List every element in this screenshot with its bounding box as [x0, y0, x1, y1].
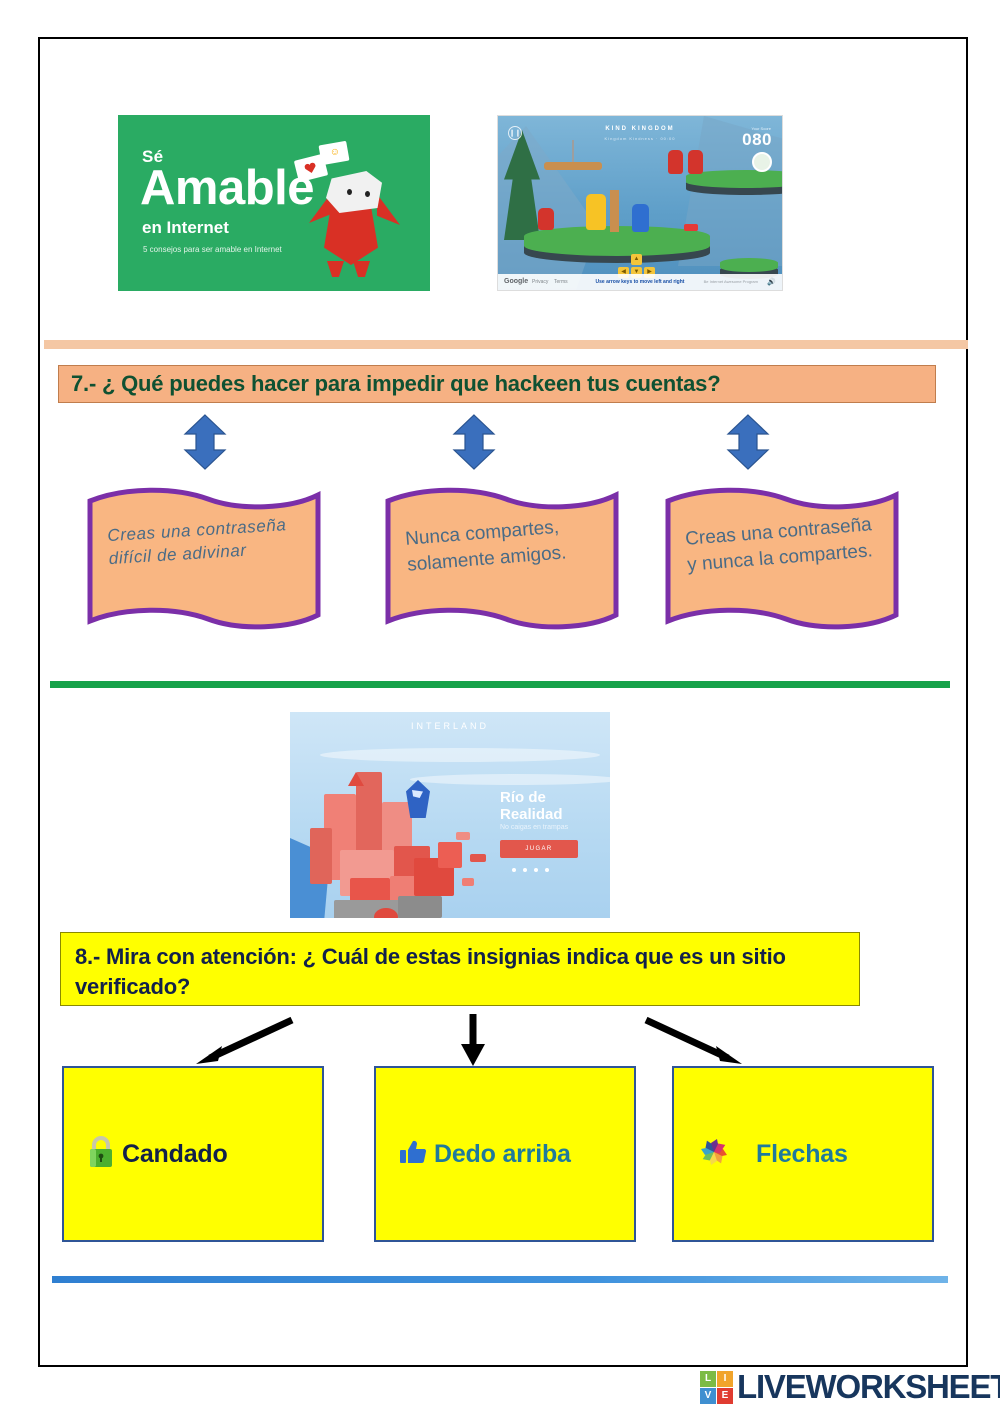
character-yellow: [586, 194, 606, 230]
character-eye-right: [365, 191, 370, 197]
character-red-1: [538, 208, 554, 230]
arrow-diagonal-icon: [640, 1016, 750, 1073]
question-8-text: 8.- Mira con atención: ¿ Cuál de estas i…: [75, 942, 845, 1001]
logo-tile-v: V: [700, 1388, 716, 1404]
amable-line2: Amable: [140, 160, 314, 216]
interland-tagline: No caigas en trampas: [500, 824, 568, 831]
character-red-3: [688, 150, 703, 174]
question-7-option-1[interactable]: Creas una contraseña difícil de adivinar: [80, 485, 326, 635]
interland-play-button[interactable]: JUGAR: [500, 840, 578, 858]
character-head: [326, 171, 382, 213]
logo-tile-e: E: [717, 1388, 733, 1404]
pinwheel-arrows-icon: [696, 1134, 732, 1175]
character-arm-right: [377, 194, 400, 225]
image-se-amable-en-internet: Sé Amable en Internet 5 consejos para se…: [118, 115, 430, 291]
arrow-down-icon: [455, 1012, 491, 1073]
thumbs-up-message-card-icon: ☺: [318, 141, 349, 166]
question-7-option-3[interactable]: Creas una contraseña y nunca la comparte…: [658, 485, 904, 635]
badge-icon: [752, 152, 772, 172]
carousel-dots[interactable]: [512, 868, 549, 872]
game-credit: Be Internet Awesome Program: [704, 279, 758, 284]
character-eye-left: [347, 189, 352, 195]
divider-green: [50, 681, 950, 688]
interland-heading-line2: Realidad: [500, 806, 563, 823]
score-value: 080: [742, 130, 772, 150]
liveworksheets-logo-tiles: L I V E: [700, 1371, 733, 1404]
game-subtitle: Kingdom Kindness · 00:00: [498, 136, 782, 141]
question-7-header: 7.- ¿ Qué puedes hacer para impedir que …: [58, 365, 936, 403]
platform-small: [720, 258, 778, 272]
image-kind-kingdom-game: ❙❙ KIND KINGDOM Kingdom Kindness · 00:00…: [497, 115, 783, 291]
question-8-option-flechas[interactable]: Flechas: [672, 1066, 934, 1242]
interland-heading-line1: Río de: [500, 789, 546, 806]
thumbs-up-icon: [398, 1137, 428, 1172]
double-arrow-up-down-icon: [726, 414, 770, 470]
collectible-chip: [684, 224, 698, 231]
key-up: ▲: [631, 254, 642, 265]
liveworksheets-wordmark: LIVEWORKSHEETS: [737, 1368, 1000, 1406]
image-interland-rio-de-realidad: INTERLAND Río de Realidad No c: [290, 712, 610, 918]
arrow-diagonal-icon: [188, 1016, 298, 1073]
character-red-2: [668, 150, 683, 174]
amable-line3: en Internet: [142, 218, 229, 238]
double-arrow-up-down-icon: [183, 414, 227, 470]
divider-peach: [44, 340, 968, 349]
logo-tile-i: I: [717, 1371, 733, 1387]
padlock-icon: [86, 1135, 116, 1174]
question-8-option-candado[interactable]: Candado: [62, 1066, 324, 1242]
question-7-text: 7.- ¿ Qué puedes hacer para impedir que …: [59, 371, 720, 397]
logo-tile-l: L: [700, 1371, 716, 1387]
pillar: [610, 190, 619, 232]
character-body: [324, 203, 378, 265]
question-8-option-dedo-arriba[interactable]: Dedo arriba: [374, 1066, 636, 1242]
divider-blue: [52, 1276, 948, 1283]
question-8-option-3-label: Flechas: [756, 1140, 848, 1169]
question-8-option-2-label: Dedo arriba: [434, 1140, 571, 1169]
character-leg-left: [327, 261, 344, 277]
character-blue: [632, 204, 649, 232]
question-8-header: 8.- Mira con atención: ¿ Cuál de estas i…: [60, 932, 860, 1006]
interland-title: INTERLAND: [290, 721, 610, 731]
question-7-option-2[interactable]: Nunca compartes, solamente amigos.: [378, 485, 624, 635]
speaker-icon: 🔊: [767, 278, 776, 286]
interland-heading: Río de Realidad: [500, 790, 563, 824]
amable-subtitle: 5 consejos para ser amable en Internet: [143, 245, 282, 254]
swing-plank: [544, 162, 602, 170]
question-8-option-1-label: Candado: [122, 1140, 228, 1169]
liveworksheets-logo: L I V E LIVEWORKSHEETS: [700, 1368, 1000, 1406]
game-title: KIND KINGDOM: [498, 126, 782, 132]
rope: [572, 140, 574, 164]
character-leg-right: [353, 261, 370, 277]
double-arrow-up-down-icon: [452, 414, 496, 470]
island-blocks: [304, 750, 494, 918]
worksheet-page: Sé Amable en Internet 5 consejos para se…: [0, 0, 1000, 1413]
game-footer-bar: Google Privacy Terms Use arrow keys to m…: [498, 274, 782, 290]
